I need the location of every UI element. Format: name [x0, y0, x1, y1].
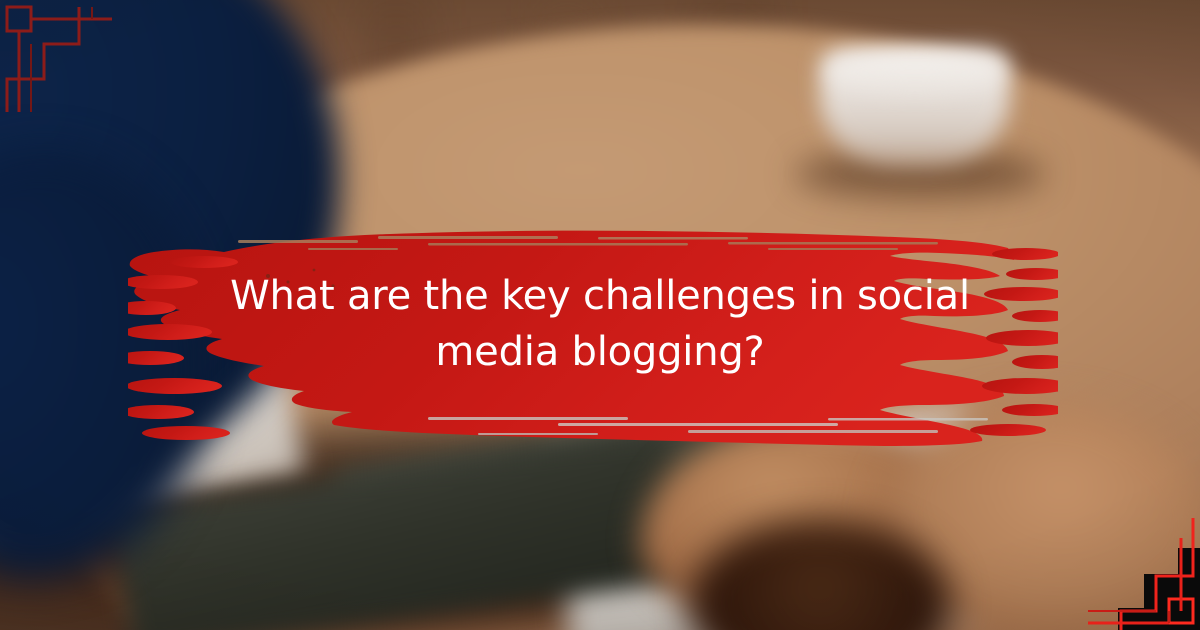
page-title: What are the key challenges in social me…: [195, 268, 1005, 380]
share-card-canvas: What are the key challenges in social me…: [0, 0, 1200, 630]
